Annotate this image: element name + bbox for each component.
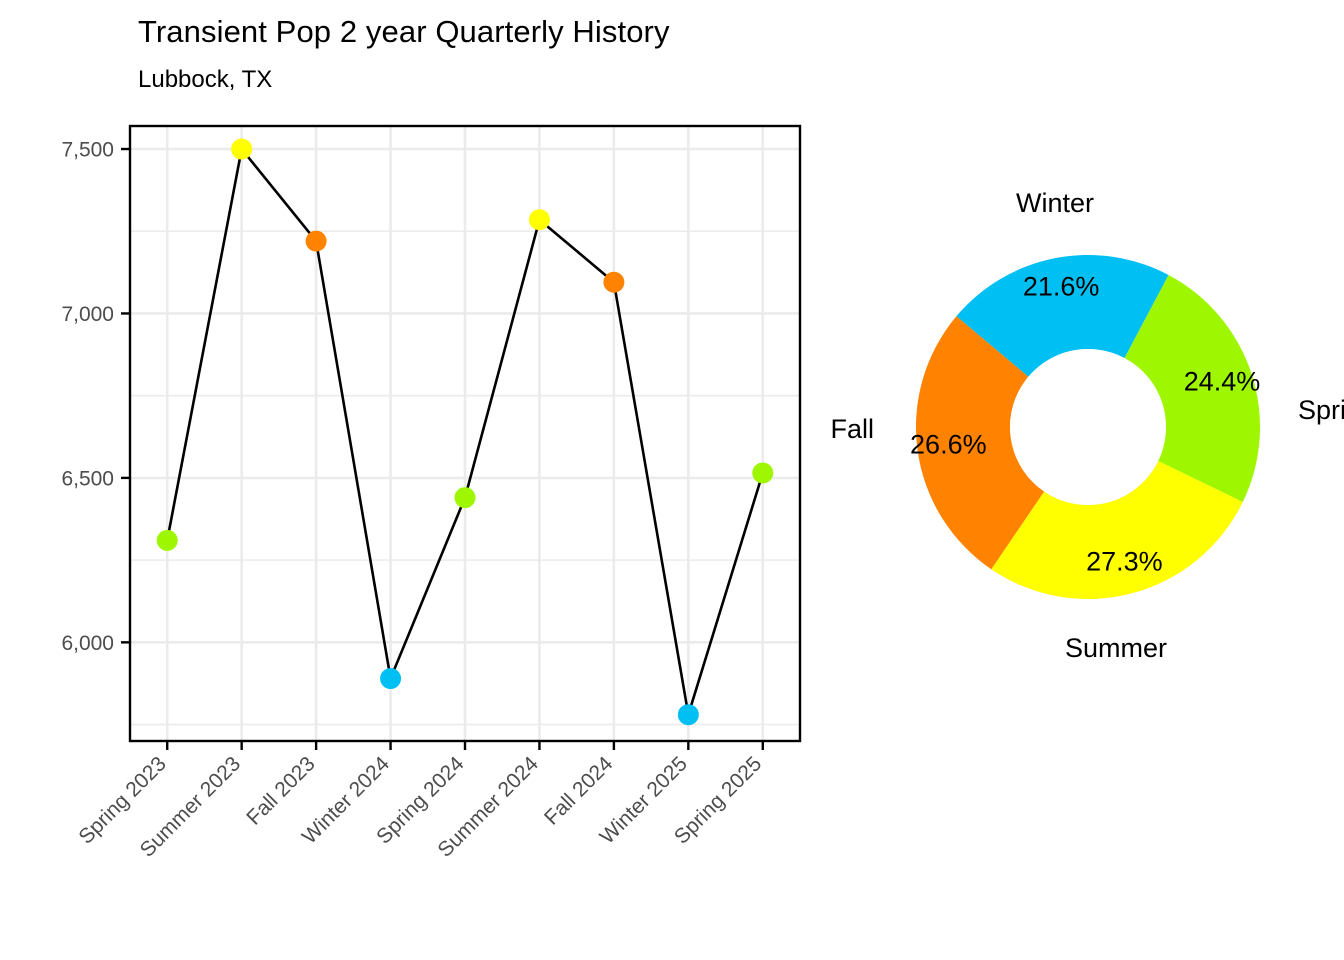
y-axis-tick-label: 7,000 (61, 303, 114, 326)
data-point-winter[interactable] (678, 704, 699, 725)
data-point-spring[interactable] (455, 487, 476, 508)
donut-value-label-fall: 26.6% (910, 429, 987, 459)
donut-category-label-spring: Sprin (1298, 395, 1344, 425)
donut-chart: 21.6%24.4%27.3%26.6%WinterSprinSummerFal… (830, 140, 1344, 680)
y-axis-tick-label: 7,500 (61, 139, 114, 162)
data-point-spring[interactable] (752, 462, 773, 483)
x-axis-tick-label: Fall 2023 (242, 752, 319, 829)
chart-page: Transient Pop 2 year Quarterly History L… (0, 0, 1344, 960)
donut-category-label-summer: Summer (1065, 633, 1167, 663)
y-axis: 6,0006,5007,0007,500 (61, 139, 130, 655)
data-point-summer[interactable] (231, 139, 252, 160)
data-point-fall[interactable] (603, 272, 624, 293)
donut-chart-svg: 21.6%24.4%27.3%26.6%WinterSprinSummerFal… (830, 140, 1344, 680)
data-point-spring[interactable] (157, 530, 178, 551)
y-axis-tick-label: 6,000 (61, 632, 114, 655)
donut-value-label-summer: 27.3% (1086, 546, 1163, 576)
y-axis-tick-label: 6,500 (61, 467, 114, 490)
donut-value-label-winter: 21.6% (1023, 272, 1100, 302)
donut-category-label-winter: Winter (1016, 188, 1094, 218)
line-chart: 6,0006,5007,0007,500Spring 2023Summer 20… (0, 0, 860, 960)
x-axis-tick-label: Fall 2024 (540, 752, 618, 830)
donut-hole (1010, 349, 1166, 505)
line-chart-svg: 6,0006,5007,0007,500Spring 2023Summer 20… (0, 0, 860, 960)
x-axis: Spring 2023Summer 2023Fall 2023Winter 20… (74, 741, 766, 862)
data-point-fall[interactable] (306, 231, 327, 252)
data-point-winter[interactable] (380, 668, 401, 689)
data-point-summer[interactable] (529, 209, 550, 230)
donut-value-label-spring: 24.4% (1184, 366, 1261, 396)
donut-category-label-fall: Fall (830, 414, 874, 444)
